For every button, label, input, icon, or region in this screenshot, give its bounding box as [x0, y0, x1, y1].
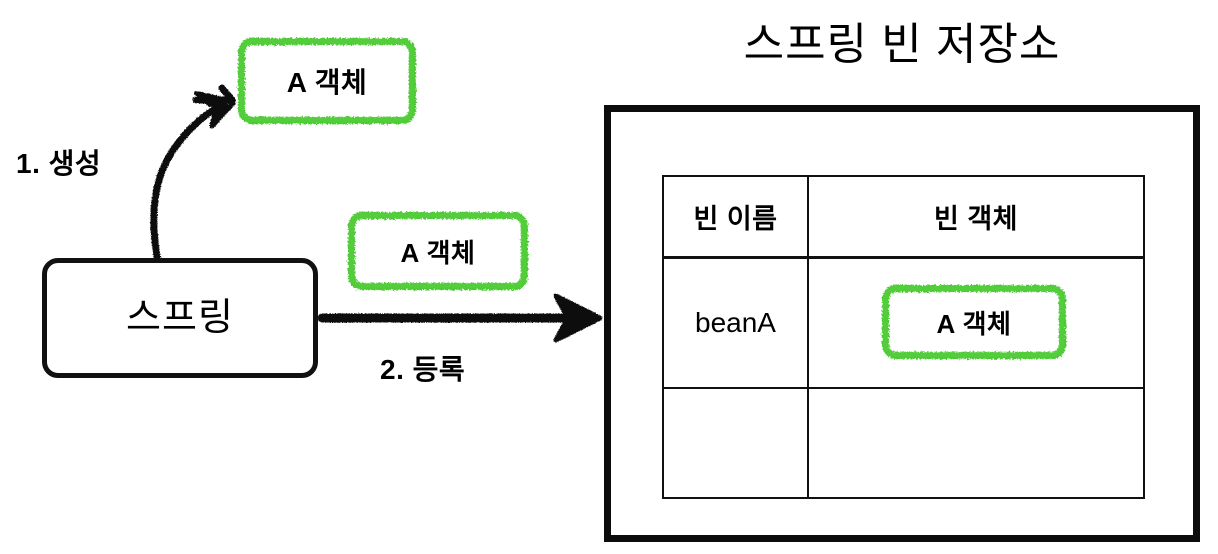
cell-bean-name: beanA [663, 258, 808, 389]
created-object-label: A 객체 [287, 61, 367, 101]
diagram-canvas: 스프링 A 객체 A 객체 1. 생성 2. 등록 스프링 빈 저장소 빈 이름… [0, 0, 1218, 554]
step-2-label: 2. 등록 [380, 348, 465, 388]
storage-title: 스프링 빈 저장소 [604, 8, 1200, 72]
table-row [663, 388, 1144, 498]
column-header-bean-object: 빈 객체 [808, 176, 1144, 258]
created-object-box: A 객체 [238, 38, 416, 124]
table-header-row: 빈 이름 빈 객체 [663, 176, 1144, 258]
registered-object-label: A 객체 [401, 233, 476, 270]
cell-bean-object-empty [808, 388, 1144, 498]
spring-container-box: 스프링 [42, 258, 318, 378]
step-1-label: 1. 생성 [16, 142, 101, 182]
registered-object-box: A 객체 [348, 212, 528, 290]
spring-container-label: 스프링 [126, 299, 234, 337]
stored-object-label: A 객체 [937, 304, 1012, 341]
cell-bean-name-empty [663, 388, 808, 498]
straight-arrow-right-icon [322, 296, 600, 340]
stored-object-box: A 객체 [882, 285, 1066, 359]
curved-arrow-up-right-icon [154, 88, 234, 262]
column-header-bean-name: 빈 이름 [663, 176, 808, 258]
